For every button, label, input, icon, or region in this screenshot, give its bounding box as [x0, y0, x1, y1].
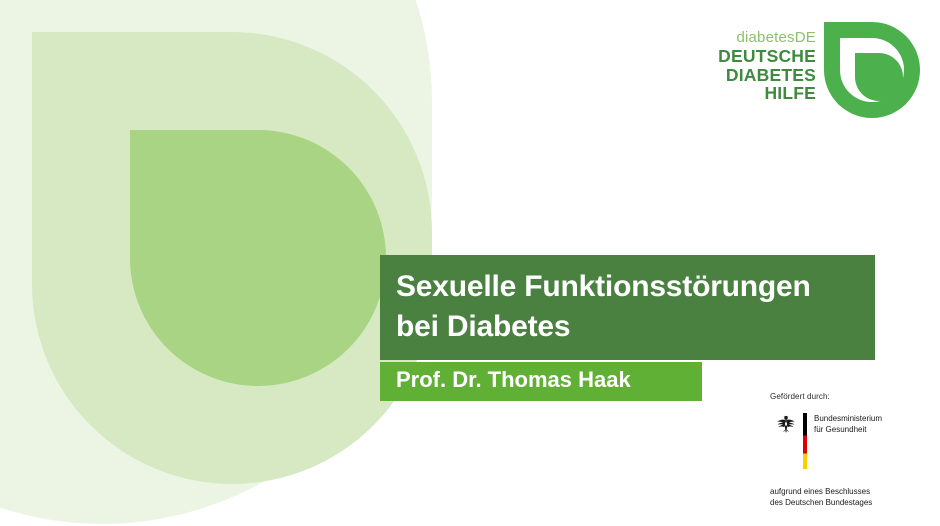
watermark-drop-outer — [0, 0, 432, 524]
bundestag-resolution-line-1: aufgrund eines Beschlusses — [770, 487, 930, 498]
slide-title-line-2: bei Diabetes — [396, 307, 859, 347]
slide-presenter-name: Prof. Dr. Thomas Haak — [396, 367, 686, 394]
ministry-name-line-1: Bundesministerium — [814, 414, 882, 425]
german-flag-bar-icon — [803, 413, 807, 469]
logo-wordmark: diabetesDE DEUTSCHE DIABETES HILFE — [718, 22, 816, 104]
logo-wordmark-top: diabetesDE — [718, 30, 816, 45]
diabetesde-logo: diabetesDE DEUTSCHE DIABETES HILFE — [718, 22, 920, 118]
logo-mark-inner-drop — [855, 53, 903, 101]
watermark-drop-inner — [130, 130, 386, 386]
diabetesde-d-drop-icon — [824, 22, 920, 118]
logo-wordmark-line-1: DEUTSCHE — [718, 48, 816, 66]
logo-wordmark-line-3: HILFE — [718, 85, 816, 103]
presentation-slide: diabetesDE DEUTSCHE DIABETES HILFE Sexue… — [0, 0, 940, 526]
funded-by-label: Gefördert durch: — [770, 392, 930, 401]
slide-presenter-bar: Prof. Dr. Thomas Haak — [380, 362, 702, 401]
german-federal-eagle-icon — [776, 413, 796, 433]
ministry-name-line-2: für Gesundheit — [814, 425, 882, 436]
bundestag-resolution-note: aufgrund eines Beschlusses des Deutschen… — [770, 487, 930, 509]
sponsor-block: Gefördert durch: Bu — [770, 392, 930, 509]
logo-wordmark-line-2: DIABETES — [718, 67, 816, 85]
slide-title-line-1: Sexuelle Funktionsstörungen — [396, 267, 859, 307]
bundesministerium-logo: Bundesministerium für Gesundheit — [776, 413, 930, 469]
ministry-name: Bundesministerium für Gesundheit — [814, 413, 882, 435]
slide-title-bar: Sexuelle Funktionsstörungen bei Diabetes — [380, 255, 875, 360]
bundestag-resolution-line-2: des Deutschen Bundestages — [770, 498, 930, 509]
watermark-drop-mid — [32, 32, 432, 484]
